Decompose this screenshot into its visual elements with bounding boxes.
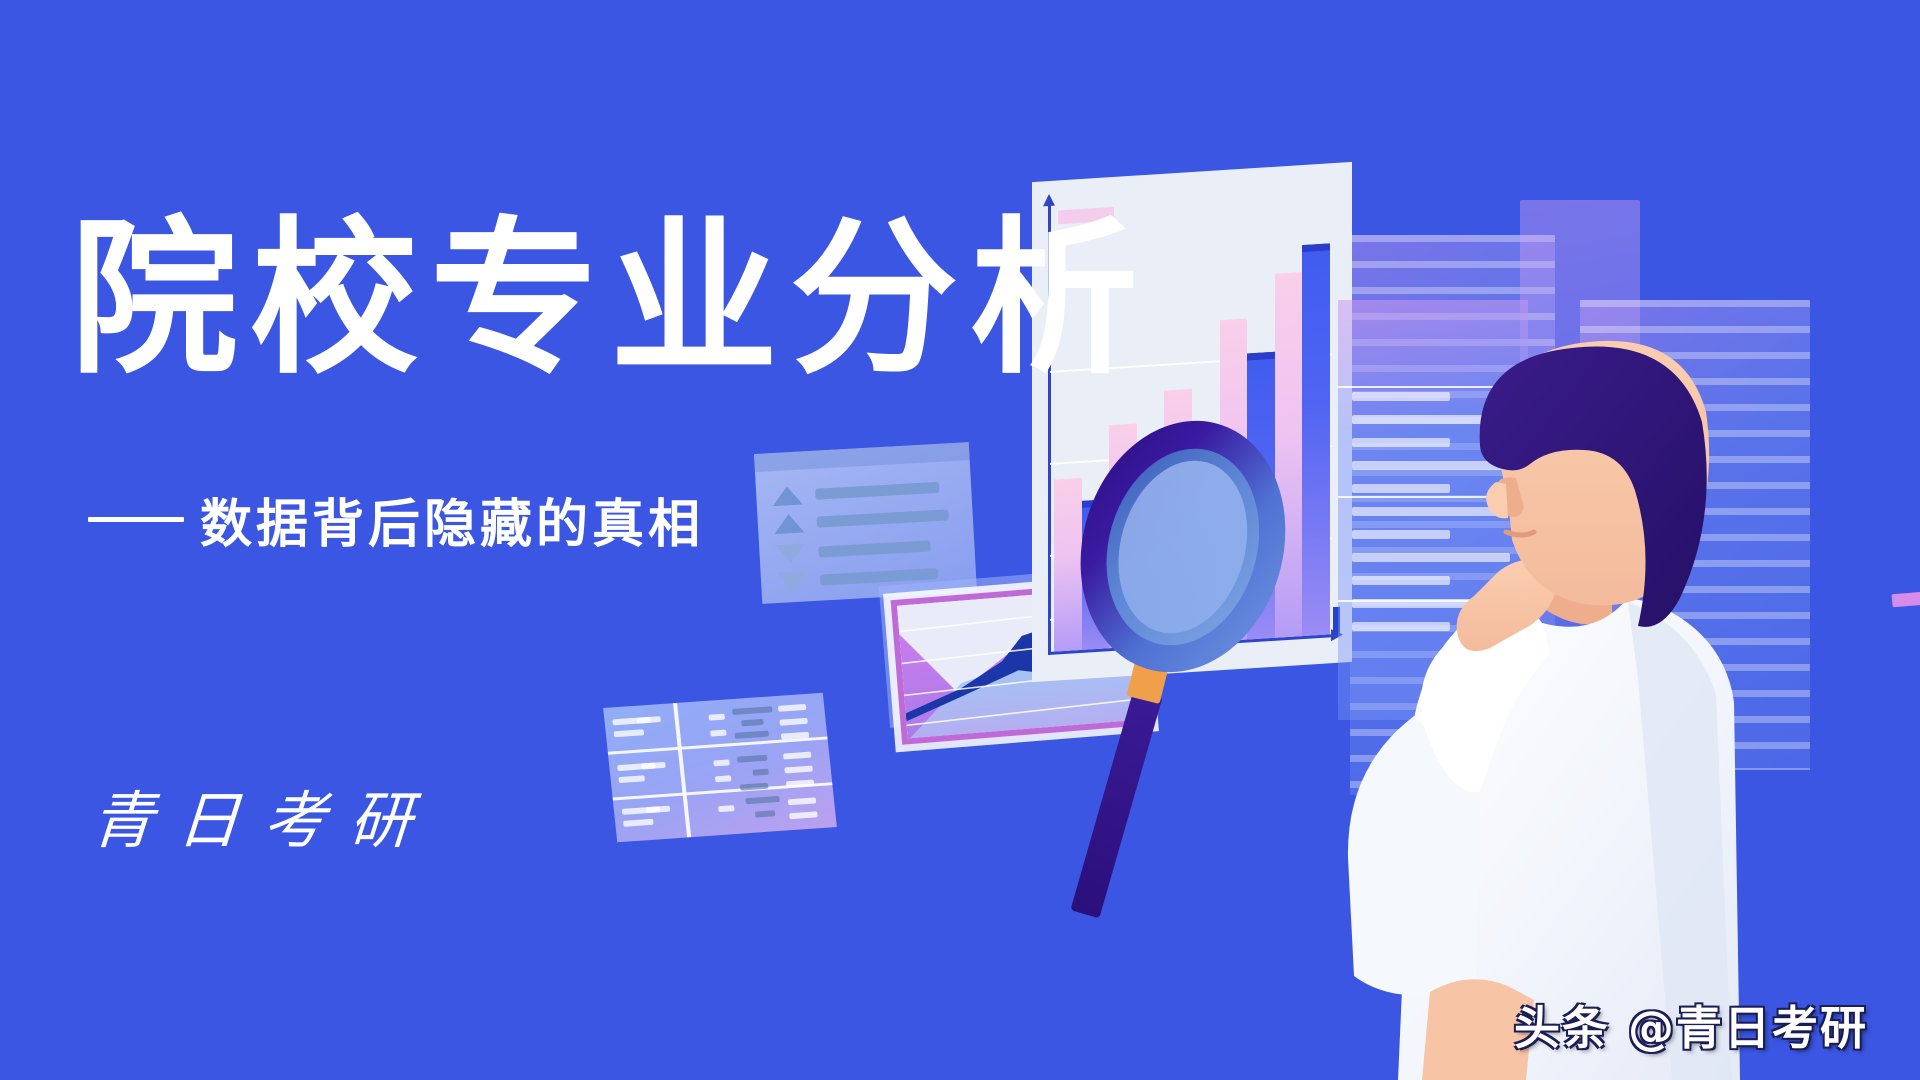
brand-logo-text: 青日考研	[89, 770, 439, 860]
subtitle-row: 数据背后隐藏的真相	[88, 482, 704, 557]
checklist-card	[754, 442, 977, 604]
watermark: 头条 @青日考研	[1514, 992, 1868, 1058]
thinking-man-figure	[1310, 250, 1920, 1080]
list-item	[772, 478, 940, 506]
triangle-up-icon	[772, 485, 803, 506]
poster-canvas: 院校专业分析 数据背后隐藏的真相 青日考研 头条 @青日考研	[0, 0, 1920, 1080]
illustration-group	[880, 0, 1920, 1080]
page-subtitle: 数据背后隐藏的真相	[200, 482, 704, 557]
subtitle-dash	[88, 517, 184, 522]
list-item	[775, 536, 931, 564]
spreadsheet-card	[603, 693, 837, 843]
list-item	[773, 505, 949, 534]
triangle-up-icon	[773, 513, 804, 534]
triangle-down-icon	[777, 571, 808, 592]
triangle-down-icon	[775, 543, 806, 564]
checklist-header	[754, 442, 970, 472]
title-block: 院校专业分析	[70, 215, 1270, 383]
page-title: 院校专业分析	[70, 215, 1270, 383]
